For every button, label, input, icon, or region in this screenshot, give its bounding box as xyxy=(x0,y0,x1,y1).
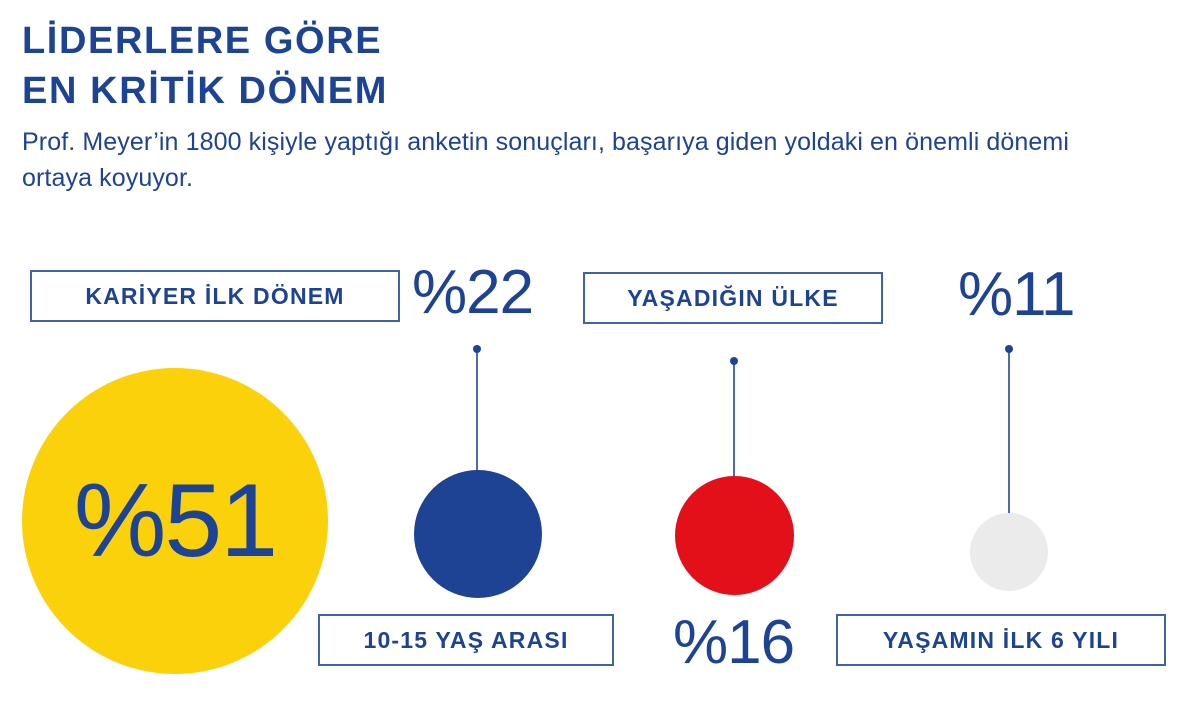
connector-dot-icon xyxy=(473,345,481,353)
label-text-yasadigin-ulke: YAŞADIĞIN ÜLKE xyxy=(627,285,838,312)
page-subtitle: Prof. Meyer’in 1800 kişiyle yaptığı anke… xyxy=(22,124,1132,196)
connector-line-16 xyxy=(733,360,735,480)
label-box-yasadigin-ulke: YAŞADIĞIN ÜLKE xyxy=(583,272,883,324)
page-title: LİDERLERE GÖRE EN KRİTİK DÖNEM xyxy=(22,16,1142,116)
label-text-kariyer-ilk-donem: KARİYER İLK DÖNEM xyxy=(85,283,344,310)
bubble-yasadigin-ulke xyxy=(675,476,794,595)
title-line-1: LİDERLERE GÖRE xyxy=(22,16,1142,66)
connector-line-22 xyxy=(476,348,478,480)
connector-line-11 xyxy=(1008,348,1010,518)
value-label-11: %11 xyxy=(958,264,1075,326)
bubble-10-15-yas-arasi xyxy=(414,470,542,598)
label-box-10-15-yas-arasi: 10-15 YAŞ ARASI xyxy=(318,614,614,666)
value-label-16: %16 xyxy=(673,612,794,674)
value-label-22: %22 xyxy=(412,262,533,324)
title-line-2: EN KRİTİK DÖNEM xyxy=(22,66,1142,116)
label-box-kariyer-ilk-donem: KARİYER İLK DÖNEM xyxy=(30,270,400,322)
value-label-51: %51 xyxy=(22,368,328,674)
connector-dot-icon xyxy=(730,357,738,365)
label-box-yasamin-ilk-6-yili: YAŞAMIN İLK 6 YILI xyxy=(836,614,1166,666)
label-text-yasamin-ilk-6-yili: YAŞAMIN İLK 6 YILI xyxy=(883,627,1119,654)
connector-dot-icon xyxy=(1005,345,1013,353)
label-text-10-15-yas-arasi: 10-15 YAŞ ARASI xyxy=(363,627,568,654)
infographic-canvas: LİDERLERE GÖRE EN KRİTİK DÖNEM Prof. Mey… xyxy=(0,0,1192,725)
bubble-yasamin-ilk-6-yili xyxy=(970,513,1048,591)
